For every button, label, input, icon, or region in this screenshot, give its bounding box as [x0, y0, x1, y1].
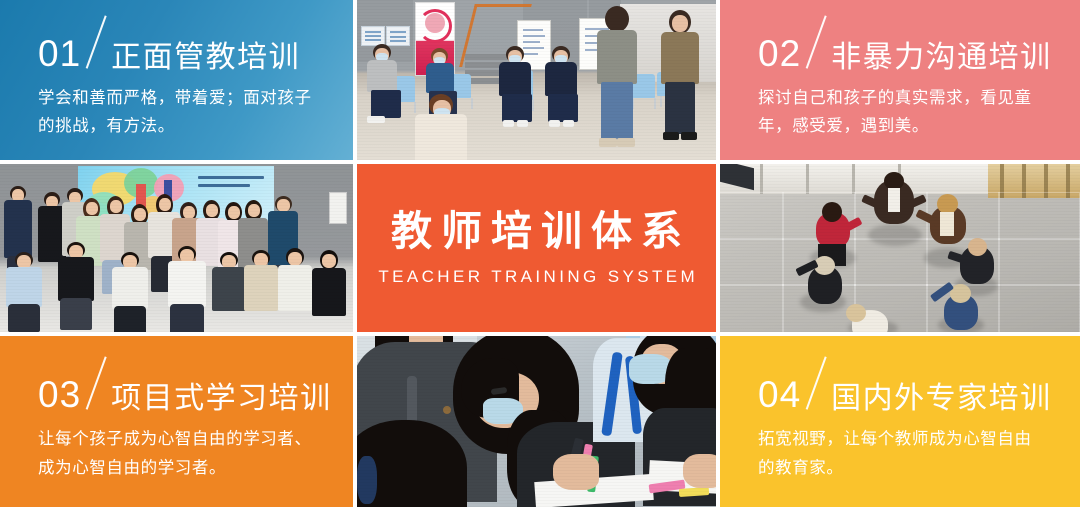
card-04-number: 04	[758, 376, 801, 413]
photo-circle-aerial-image	[720, 164, 1080, 332]
system-title-en: TEACHER TRAINING SYSTEM	[375, 268, 698, 285]
card-03-title: 项目式学习培训	[111, 384, 332, 414]
photo-training-room-image	[357, 0, 716, 160]
photo-circle-aerial	[720, 164, 1080, 336]
card-02-slash-icon	[801, 20, 831, 72]
photo-training-room	[357, 0, 720, 164]
card-01-number: 01	[38, 35, 81, 72]
card-01-description: 学会和善而严格，带着爱；面对孩子的挑战，有方法。	[38, 84, 321, 141]
card-02-description: 探讨自己和孩子的真实需求，看见童年，感受爱，遇到美。	[758, 84, 1048, 141]
card-01-title: 正面管教培训	[111, 43, 300, 73]
card-03-description: 让每个孩子成为心智自由的学习者、成为心智自由的学习者。	[38, 425, 321, 482]
center-title-panel: 教师培训体系 TEACHER TRAINING SYSTEM	[357, 164, 720, 336]
card-03-project-based-learning[interactable]: 03 项目式学习培训 让每个孩子成为心智自由的学习者、成为心智自由的学习者。	[0, 336, 357, 507]
card-03-headline: 03 项目式学习培训	[38, 361, 321, 413]
card-03-number: 03	[38, 376, 81, 413]
teacher-training-system-board: 01 正面管教培训 学会和善而严格，带着爱；面对孩子的挑战，有方法。	[0, 0, 1080, 507]
system-title-cn: 教师培训体系	[382, 211, 691, 252]
card-01-slash-icon	[81, 20, 111, 72]
photo-workshop-writing-image	[357, 336, 716, 507]
card-04-description: 拓宽视野，让每个教师成为心智自由的教育家。	[758, 425, 1048, 482]
photo-group-portrait	[0, 164, 357, 336]
card-04-expert-training[interactable]: 04 国内外专家培训 拓宽视野，让每个教师成为心智自由的教育家。	[720, 336, 1080, 507]
card-02-nonviolent-communication[interactable]: 02 非暴力沟通培训 探讨自己和孩子的真实需求，看见童年，感受爱，遇到美。	[720, 0, 1080, 164]
card-04-headline: 04 国内外专家培训	[758, 361, 1048, 413]
card-03-slash-icon	[81, 361, 111, 413]
card-02-number: 02	[758, 35, 801, 72]
photo-group-portrait-image	[0, 164, 353, 332]
card-01-headline: 01 正面管教培训	[38, 20, 321, 72]
card-02-title: 非暴力沟通培训	[831, 43, 1052, 73]
card-04-slash-icon	[801, 361, 831, 413]
card-02-headline: 02 非暴力沟通培训	[758, 20, 1048, 72]
card-01-positive-discipline[interactable]: 01 正面管教培训 学会和善而严格，带着爱；面对孩子的挑战，有方法。	[0, 0, 357, 164]
photo-workshop-writing	[357, 336, 720, 507]
card-04-title: 国内外专家培训	[831, 384, 1052, 414]
